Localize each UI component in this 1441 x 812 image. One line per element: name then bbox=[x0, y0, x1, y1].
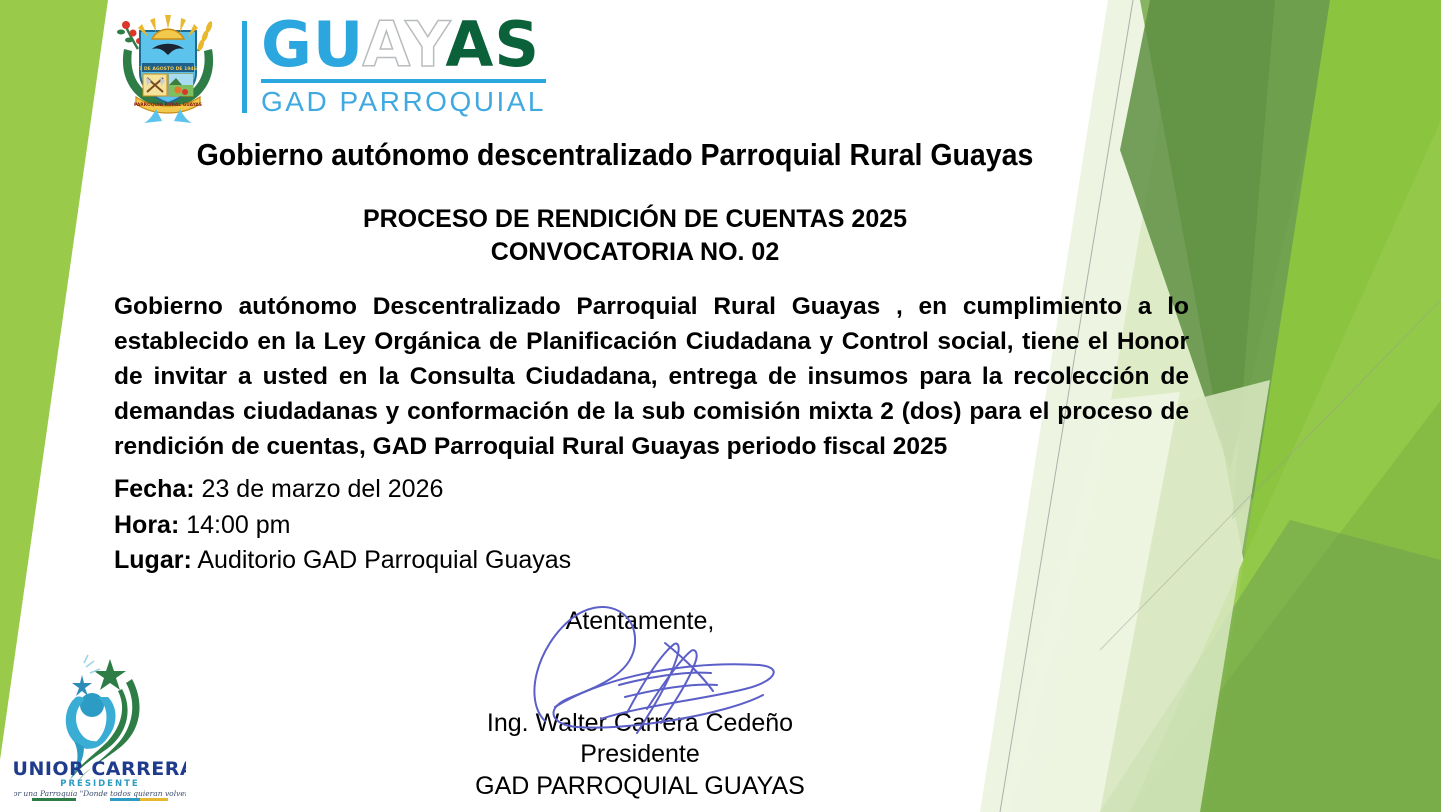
wordmark-text: GUAYAS bbox=[261, 16, 546, 75]
detail-row-fecha: Fecha: 23 de marzo del 2026 bbox=[114, 472, 571, 508]
right-shape-dark-2 bbox=[1232, 0, 1441, 520]
logo-name-text: JUNIOR CARRERA bbox=[14, 758, 186, 780]
svg-text:PARROQUIA RURAL GUAYAS: PARROQUIA RURAL GUAYAS bbox=[134, 102, 202, 108]
signatory-role: Presidente bbox=[380, 739, 900, 770]
fecha-label: Fecha: bbox=[114, 475, 195, 503]
lugar-value: Auditorio GAD Parroquial Guayas bbox=[197, 546, 571, 574]
right-shape-lime-1 bbox=[1205, 0, 1441, 812]
body-paragraph: Gobierno autónomo Descentralizado Parroq… bbox=[114, 289, 1189, 464]
svg-text:7 DE AGOSTO DE 1946: 7 DE AGOSTO DE 1946 bbox=[139, 66, 197, 72]
star-large bbox=[94, 659, 126, 690]
logo-role-text: PRESIDENTE bbox=[60, 779, 139, 789]
logo-figure-head bbox=[80, 693, 104, 717]
logo-underline-yellow bbox=[140, 798, 168, 801]
subtitle-block: PROCESO DE RENDICIÓN DE CUENTAS 2025 CON… bbox=[60, 203, 1210, 270]
signatory-name: Ing. Walter Carrera Cedeño bbox=[380, 708, 900, 739]
logo-tagline-text: Por una Parroquia "Donde todos quieran v… bbox=[14, 789, 186, 798]
guayas-coat-of-arms-icon: 7 DE AGOSTO DE 1946 PARROQ bbox=[108, 9, 228, 125]
wordmark-divider bbox=[242, 21, 247, 113]
signature-salutation: Atentamente, bbox=[380, 606, 900, 636]
logo-underline-blue bbox=[110, 798, 140, 801]
wordmark-rule bbox=[261, 79, 546, 83]
signature-spacer bbox=[380, 636, 900, 708]
detail-row-lugar: Lugar: Auditorio GAD Parroquial Guayas bbox=[114, 543, 571, 579]
detail-row-hora: Hora: 14:00 pm bbox=[114, 508, 571, 544]
guayas-wordmark: GUAYAS GAD PARROQUIAL bbox=[242, 16, 546, 118]
hora-label: Hora: bbox=[114, 511, 179, 539]
right-shape-midgreen bbox=[1100, 520, 1441, 812]
wordmark-part-ghost: AY bbox=[362, 8, 445, 81]
star-small bbox=[72, 675, 92, 696]
wordmark-part-blue: GU bbox=[261, 8, 362, 81]
logo-underline-green bbox=[32, 798, 76, 801]
page-title: Gobierno autónomo descentralizado Parroq… bbox=[104, 137, 1125, 173]
fecha-value: 23 de marzo del 2026 bbox=[202, 475, 444, 503]
signature-block: Atentamente, Ing. Walter Carrera Cedeño … bbox=[380, 606, 900, 802]
signatory-organization: GAD PARROQUIAL GUAYAS bbox=[380, 771, 900, 802]
subtitle-line-2: CONVOCATORIA NO. 02 bbox=[60, 236, 1210, 269]
wordmark-subtitle: GAD PARROQUIAL bbox=[261, 86, 546, 118]
wordmark-part-green: AS bbox=[445, 8, 540, 81]
hora-value: 14:00 pm bbox=[186, 511, 290, 539]
lugar-label: Lugar: bbox=[114, 546, 192, 574]
subtitle-line-1: PROCESO DE RENDICIÓN DE CUENTAS 2025 bbox=[60, 203, 1210, 236]
letterhead: 7 DE AGOSTO DE 1946 PARROQ bbox=[108, 8, 546, 126]
invitation-document: 7 DE AGOSTO DE 1946 PARROQ bbox=[0, 0, 1441, 812]
junior-carrera-presidente-logo-icon: JUNIOR CARRERA PRESIDENTE Por una Parroq… bbox=[14, 645, 186, 805]
event-details: Fecha: 23 de marzo del 2026 Hora: 14:00 … bbox=[114, 472, 571, 579]
